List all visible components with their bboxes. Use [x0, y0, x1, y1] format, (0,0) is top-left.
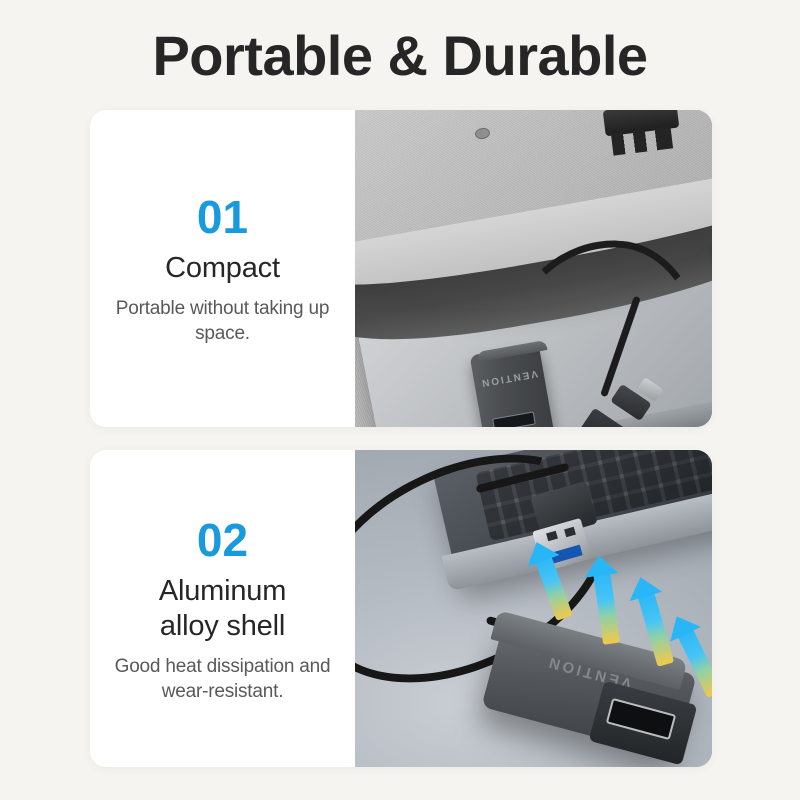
- feature-heading-compact: Compact: [165, 251, 280, 286]
- feature-card-02: 02 Aluminum alloy shell Good heat dissip…: [90, 450, 712, 767]
- product-feature-page: Portable & Durable 01 Compact Portable w…: [0, 0, 800, 800]
- feature-photo-01: VENTION: [355, 110, 712, 427]
- feature-number-01: 01: [197, 191, 248, 243]
- feature-heading-aluminum-alloy-shell: Aluminum alloy shell: [159, 574, 286, 644]
- feature-heading-line-2: alloy shell: [160, 610, 285, 642]
- feature-card-01-text: 01 Compact Portable without taking up sp…: [90, 110, 355, 427]
- feature-description-compact: Portable without taking up space.: [104, 296, 341, 346]
- feature-number-02: 02: [197, 514, 248, 566]
- feature-card-02-text: 02 Aluminum alloy shell Good heat dissip…: [90, 450, 355, 767]
- feature-description-aluminum-alloy-shell: Good heat dissipation and wear-resistant…: [104, 654, 341, 704]
- feature-heading-line-1: Aluminum: [159, 575, 286, 607]
- page-title: Portable & Durable: [0, 22, 800, 90]
- feature-photo-02: VENTION: [355, 450, 712, 767]
- feature-card-01: 01 Compact Portable without taking up sp…: [90, 110, 712, 427]
